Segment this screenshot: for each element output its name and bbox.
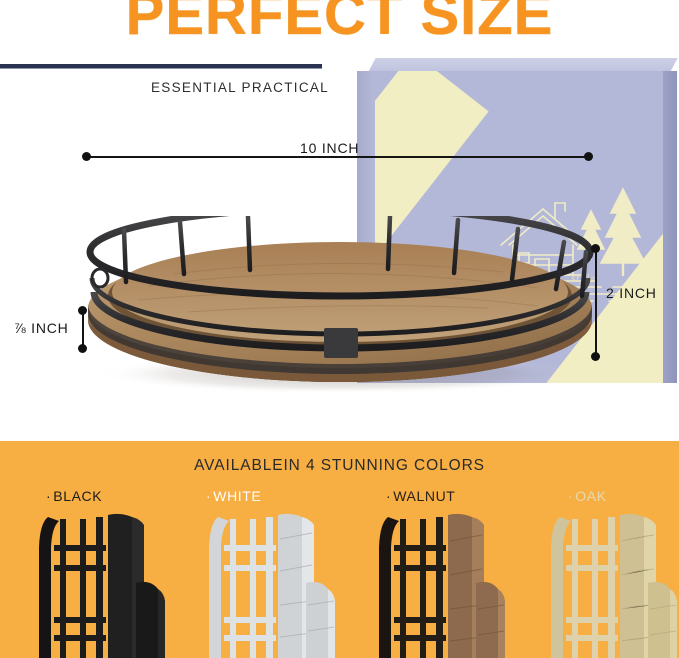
color-name: BLACK [53, 488, 102, 504]
variant-tray-black [8, 505, 178, 658]
bullet-icon: · [206, 488, 211, 504]
color-label-white: ·WHITE [206, 488, 261, 504]
variant-tray-white [178, 505, 348, 658]
width-dimension-endpoint [584, 152, 593, 161]
color-label-black: ·BLACK [46, 488, 102, 504]
lazy-susan-tray-image [78, 216, 598, 396]
colors-section: AVAILABLEIN 4 STUNNING COLORS ·BLACK ·WH… [0, 441, 679, 658]
box-right-edge [663, 71, 677, 383]
color-label-walnut: ·WALNUT [386, 488, 455, 504]
height-dimension-label: 2 INCH [606, 285, 657, 301]
color-variant-row [0, 505, 679, 658]
bullet-icon: · [46, 488, 51, 504]
height-dimension-line [595, 248, 597, 356]
color-name: OAK [575, 488, 606, 504]
bullet-icon: · [386, 488, 391, 504]
width-dimension-label: 10 INCH [300, 140, 359, 156]
height-dimension-endpoint [591, 244, 600, 253]
title-divider-rule [0, 64, 322, 68]
bullet-icon: · [568, 488, 573, 504]
color-label-oak: ·OAK [568, 488, 607, 504]
color-name: WALNUT [393, 488, 455, 504]
variant-tray-oak [520, 505, 679, 658]
product-infographic: PERFECT SIZE ESSENTIAL PRACTICAL [0, 0, 679, 658]
color-name: WHITE [213, 488, 261, 504]
thickness-dimension-line [82, 310, 84, 348]
colors-section-title: AVAILABLEIN 4 STUNNING COLORS [0, 457, 679, 475]
width-dimension-endpoint [82, 152, 91, 161]
page-title: PERFECT SIZE [0, 0, 679, 44]
height-dimension-endpoint [591, 352, 600, 361]
thickness-dimension-endpoint [78, 306, 87, 315]
thickness-dimension-endpoint [78, 344, 87, 353]
size-section: PERFECT SIZE ESSENTIAL PRACTICAL [0, 0, 679, 441]
thickness-dimension-label: ⅞ INCH [14, 320, 69, 336]
width-dimension-line [86, 156, 588, 158]
variant-tray-walnut [348, 505, 518, 658]
